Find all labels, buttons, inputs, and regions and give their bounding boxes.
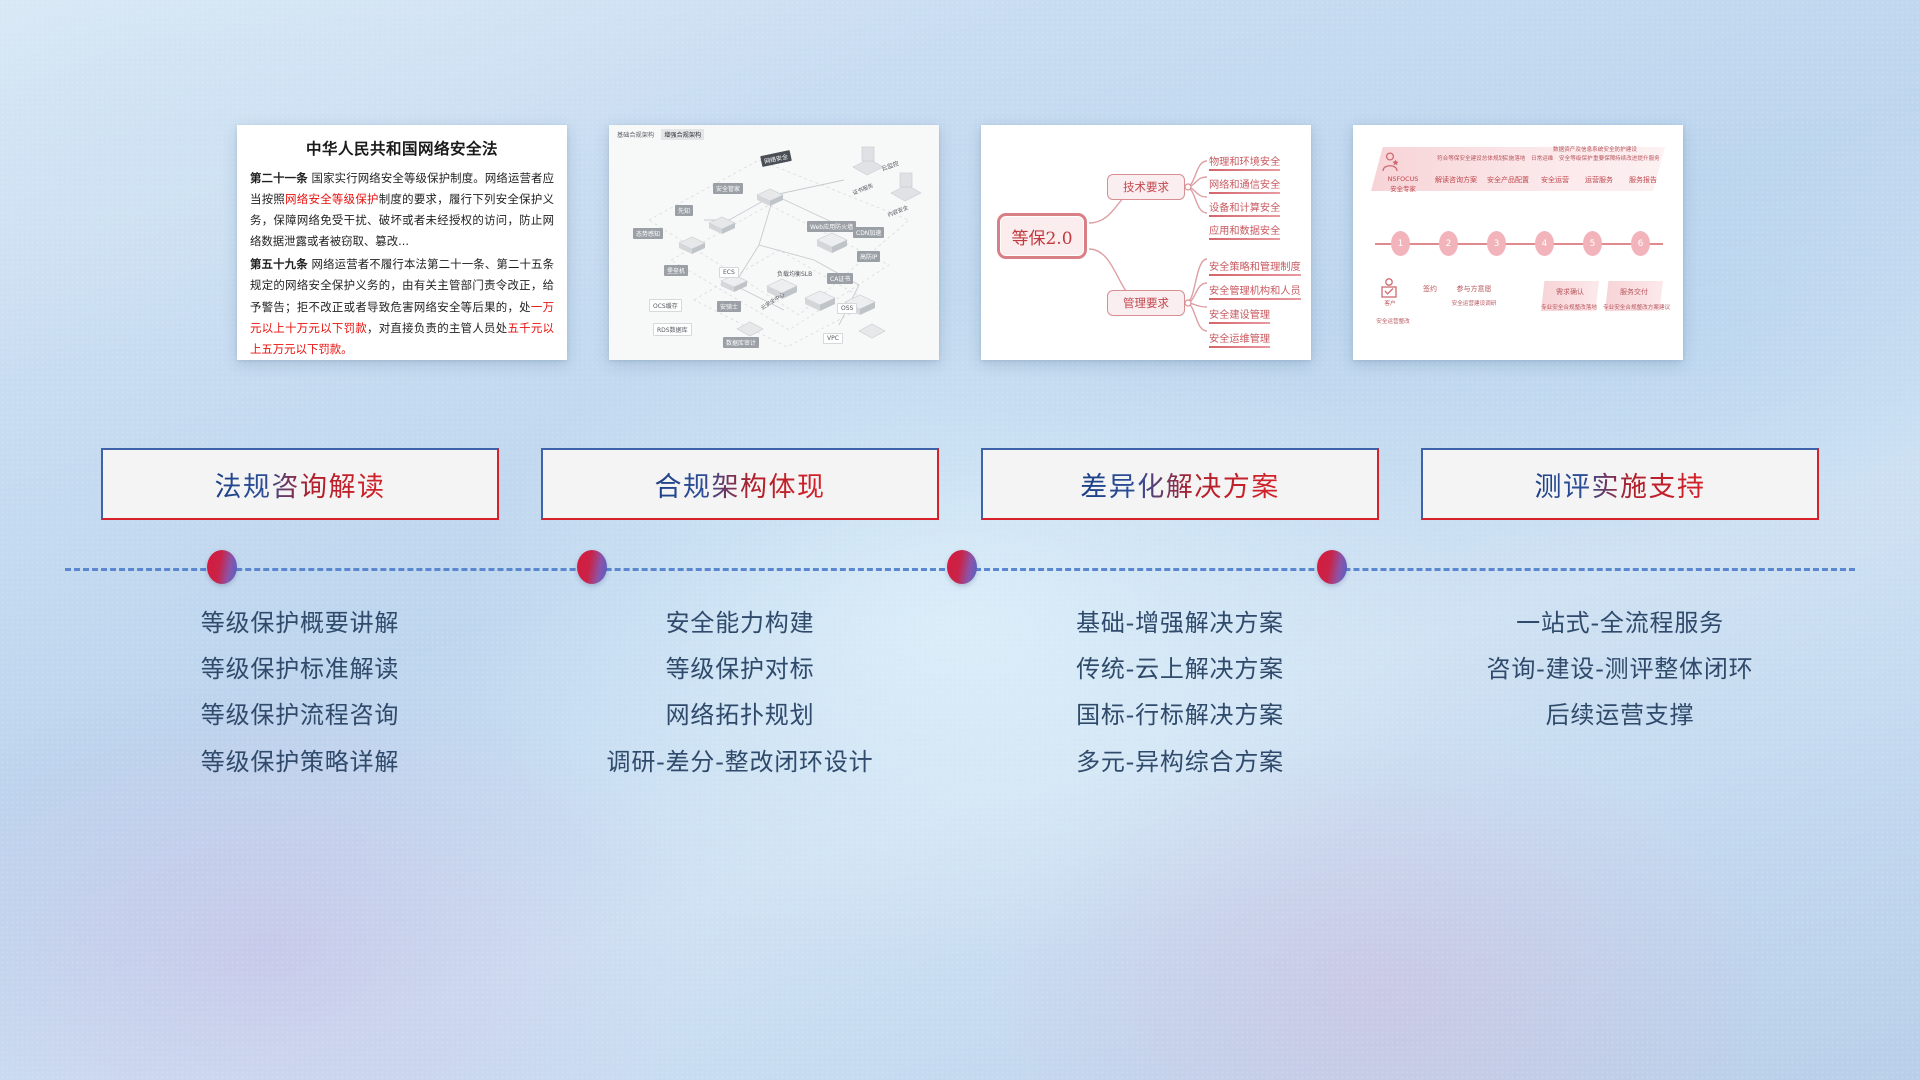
band-item: 重要保障 bbox=[1593, 154, 1615, 162]
band-item: 实施落地 bbox=[1503, 154, 1525, 162]
list-item: 一站式-全流程服务 bbox=[1516, 605, 1724, 642]
label-box-differentiated-solution[interactable]: 差异化解决方案 bbox=[981, 448, 1379, 520]
stage-label: 安全产品配置 bbox=[1487, 175, 1529, 185]
nsfocus-brand: NSFOCUS bbox=[1377, 175, 1429, 184]
step-marker-4: 4 bbox=[1535, 231, 1554, 256]
list-item: 安全能力构建 bbox=[666, 605, 815, 642]
article-number: 第二十一条 bbox=[250, 171, 308, 185]
band-item: 日常运维 bbox=[1531, 154, 1553, 162]
nsfocus-timeline-line bbox=[1375, 243, 1663, 245]
bottom-tag: 需求确认 bbox=[1543, 288, 1597, 298]
label-box-regulation-consulting[interactable]: 法规咨询解读 bbox=[101, 448, 499, 520]
mindmap-leaf: 应用和数据安全 bbox=[1209, 222, 1280, 239]
nsfocus-flow-diagram: NSFOCUS 安全专家 符合等保安全建设总体规划 实施落地 日常运维 安全等级… bbox=[1353, 125, 1683, 360]
law-article-59: 第五十九条 网络运营者不履行本法第二十一条、第二十五条规定的网络安全保护义务的，… bbox=[250, 254, 554, 359]
column-compliance-architecture: 安全能力构建 等级保护对标 网络拓扑规划 调研-差分-整改闭环设计 bbox=[541, 605, 939, 781]
bottom-tag: 参与方意愿 bbox=[1451, 285, 1497, 295]
label-box-text: 差异化解决方案 bbox=[1080, 465, 1280, 504]
preview-cards-row: 中华人民共和国网络安全法 第二十一条 国家实行网络安全等级保护制度。网络运营者应… bbox=[0, 125, 1920, 360]
column-differentiated-solution: 基础-增强解决方案 传统-云上解决方案 国标-行标解决方案 多元-异构综合方案 bbox=[981, 605, 1379, 781]
column-regulation-consulting: 等级保护概要讲解 等级保护标准解读 等级保护流程咨询 等级保护策略详解 bbox=[101, 605, 499, 781]
bottom-note: 专业安全合规整改落地 bbox=[1539, 305, 1599, 313]
step-marker-5: 5 bbox=[1583, 231, 1602, 256]
node-label-oss: OSS bbox=[837, 303, 857, 314]
band-item: 持续改进提升服务 bbox=[1615, 154, 1660, 162]
node-label-anti-ddos-ip: 高防IP bbox=[857, 251, 880, 262]
band-item: 安全等级保护 bbox=[1559, 154, 1593, 162]
node-label-waf: Web应用防火墙 bbox=[807, 221, 856, 232]
stage-label: 服务报告 bbox=[1629, 175, 1657, 185]
label-box-text: 测评实施支持 bbox=[1535, 465, 1706, 504]
card-cloud-architecture[interactable]: 基础合规架构 增强合规架构 bbox=[609, 125, 939, 360]
law-document: 中华人民共和国网络安全法 第二十一条 国家实行网络安全等级保护制度。网络运营者应… bbox=[237, 125, 567, 360]
node-label-ocs-cache: OCS缓存 bbox=[649, 299, 682, 312]
node-label-cdn: CDN加速 bbox=[853, 227, 884, 238]
bottom-note: 安全运营整改 bbox=[1373, 319, 1413, 327]
timeline-dot-3[interactable] bbox=[947, 550, 977, 584]
band-item: 符合等保安全建设总体规划 bbox=[1437, 154, 1504, 162]
mindmap-leaf: 安全运维管理 bbox=[1209, 330, 1270, 347]
law-document-body: 第二十一条 国家实行网络安全等级保护制度。网络运营者应当按照网络安全等级保护制度… bbox=[250, 168, 554, 360]
list-item: 等级保护对标 bbox=[666, 651, 815, 688]
list-item: 等级保护流程咨询 bbox=[201, 697, 399, 734]
timeline-dot-2[interactable] bbox=[577, 550, 607, 584]
node-label-slb: 负载均衡SLB bbox=[777, 269, 812, 278]
node-label-security-butler: 安全管家 bbox=[713, 183, 743, 194]
list-item: 调研-差分-整改闭环设计 bbox=[607, 744, 874, 781]
process-timeline bbox=[65, 568, 1855, 570]
article-text-highlight: 网络安全等级保护 bbox=[285, 192, 379, 206]
list-item: 等级保护策略详解 bbox=[201, 744, 399, 781]
node-label-vpc: VPC bbox=[823, 333, 843, 344]
mindmap-leaf: 安全建设管理 bbox=[1209, 306, 1270, 323]
list-item: 等级保护标准解读 bbox=[201, 651, 399, 688]
article-number: 第五十九条 bbox=[250, 257, 308, 271]
bottom-tag: 签约 bbox=[1415, 285, 1445, 295]
bottom-tag: 客户 bbox=[1375, 301, 1405, 309]
law-article-21: 第二十一条 国家实行网络安全等级保护制度。网络运营者应当按照网络安全等级保护制度… bbox=[250, 168, 554, 252]
list-item: 后续运营支撑 bbox=[1546, 697, 1695, 734]
stage-label: 解读咨询方案 bbox=[1435, 175, 1477, 185]
step-marker-6: 6 bbox=[1631, 231, 1650, 256]
bottom-tag: 服务交付 bbox=[1607, 288, 1661, 298]
label-box-text: 合规架构体现 bbox=[655, 465, 826, 504]
mindmap-leaf: 安全管理机构和人员 bbox=[1209, 282, 1301, 299]
node-label-bastion-host: 堡垒机 bbox=[664, 265, 688, 276]
stage-label: 运营服务 bbox=[1585, 175, 1613, 185]
section-label-row: 法规咨询解读 合规架构体现 差异化解决方案 测评实施支持 bbox=[0, 448, 1920, 520]
card-dengbao-mindmap[interactable]: 等保2.0 技术要求 管理要求 物理和环境安全 网络和通信安全 设备和计算安全 … bbox=[981, 125, 1311, 360]
mindmap: 等保2.0 技术要求 管理要求 物理和环境安全 网络和通信安全 设备和计算安全 … bbox=[981, 125, 1311, 360]
node-label-rds-database: RDS数据库 bbox=[653, 323, 692, 336]
detail-columns-row: 等级保护概要讲解 等级保护标准解读 等级保护流程咨询 等级保护策略详解 安全能力… bbox=[0, 605, 1920, 781]
node-label-situation-awareness: 态势感知 bbox=[633, 228, 663, 239]
list-item: 咨询-建设-测评整体闭环 bbox=[1487, 651, 1754, 688]
expert-person-icon bbox=[1379, 151, 1401, 173]
bottom-note: 安全运营建设调研 bbox=[1449, 301, 1499, 309]
cloud-architecture-diagram: 基础合规架构 增强合规架构 bbox=[609, 125, 939, 360]
mindmap-root-node[interactable]: 等保2.0 bbox=[997, 213, 1087, 259]
client-person-icon bbox=[1379, 277, 1399, 299]
step-marker-1: 1 bbox=[1391, 231, 1410, 256]
list-item: 网络拓扑规划 bbox=[666, 697, 815, 734]
mindmap-leaf: 物理和环境安全 bbox=[1209, 153, 1280, 170]
mindmap-branch-technical[interactable]: 技术要求 bbox=[1107, 174, 1185, 200]
label-box-assessment-support[interactable]: 测评实施支持 bbox=[1421, 448, 1819, 520]
node-label-ecs: ECS bbox=[719, 267, 739, 278]
band-item: 数据资产及信息系统安全防护建设 bbox=[1553, 145, 1637, 153]
card-nsfocus-service-flow[interactable]: NSFOCUS 安全专家 符合等保安全建设总体规划 实施落地 日常运维 安全等级… bbox=[1353, 125, 1683, 360]
timeline-dot-1[interactable] bbox=[207, 550, 237, 584]
card-cybersecurity-law[interactable]: 中华人民共和国网络安全法 第二十一条 国家实行网络安全等级保护制度。网络运营者应… bbox=[237, 125, 567, 360]
nsfocus-brand-sub: 安全专家 bbox=[1377, 185, 1429, 194]
article-text-seg: ，对直接负责的主管人员处 bbox=[367, 321, 507, 335]
list-item: 传统-云上解决方案 bbox=[1076, 651, 1284, 688]
step-marker-2: 2 bbox=[1439, 231, 1458, 256]
node-label-ca-certificate: CA证书 bbox=[827, 273, 853, 284]
list-item: 国标-行标解决方案 bbox=[1076, 697, 1284, 734]
list-item: 等级保护概要讲解 bbox=[201, 605, 399, 642]
column-assessment-support: 一站式-全流程服务 咨询-建设-测评整体闭环 后续运营支撑 bbox=[1421, 605, 1819, 781]
step-marker-3: 3 bbox=[1487, 231, 1506, 256]
mindmap-leaf: 设备和计算安全 bbox=[1209, 199, 1280, 216]
node-label-xianzhi: 先知 bbox=[675, 205, 693, 216]
list-item: 基础-增强解决方案 bbox=[1076, 605, 1284, 642]
mindmap-branch-management[interactable]: 管理要求 bbox=[1107, 290, 1185, 316]
node-label-anqishi: 安骑士 bbox=[717, 301, 741, 312]
mindmap-leaf: 安全策略和管理制度 bbox=[1209, 258, 1301, 275]
node-label-db-audit: 数据库审计 bbox=[723, 337, 759, 348]
label-box-compliance-architecture[interactable]: 合规架构体现 bbox=[541, 448, 939, 520]
timeline-dot-4[interactable] bbox=[1317, 550, 1347, 584]
label-box-text: 法规咨询解读 bbox=[215, 465, 386, 504]
list-item: 多元-异构综合方案 bbox=[1076, 744, 1284, 781]
mindmap-leaf: 网络和通信安全 bbox=[1209, 176, 1280, 193]
bottom-note: 专业安全合规整改方案建议 bbox=[1603, 305, 1663, 313]
law-document-title: 中华人民共和国网络安全法 bbox=[250, 137, 554, 159]
stage-label: 安全运营 bbox=[1541, 175, 1569, 185]
